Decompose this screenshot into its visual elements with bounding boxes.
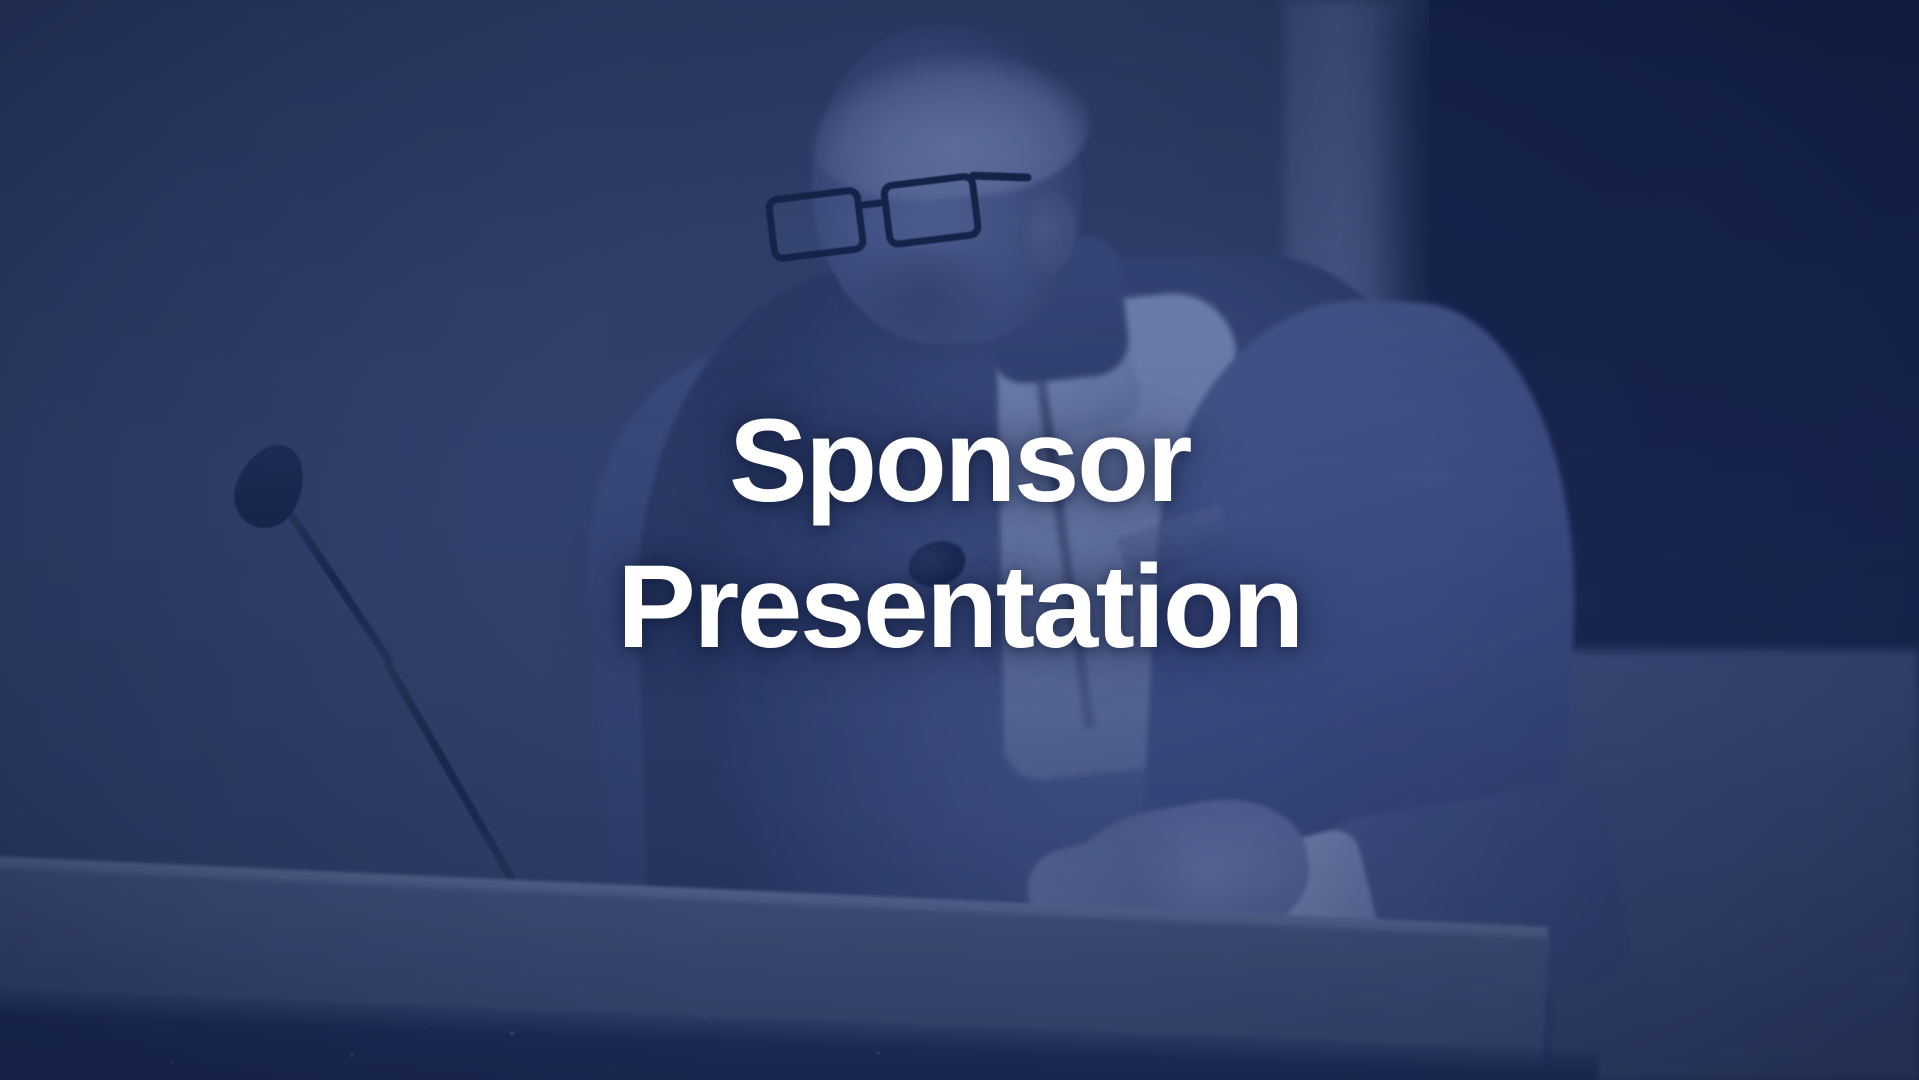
headline-line-1: Sponsor [0, 388, 1919, 534]
headline-line-2: Presentation [0, 534, 1919, 680]
slide-headline: Sponsor Presentation [0, 388, 1919, 681]
slide-canvas: Sponsor Presentation [0, 0, 1919, 1080]
